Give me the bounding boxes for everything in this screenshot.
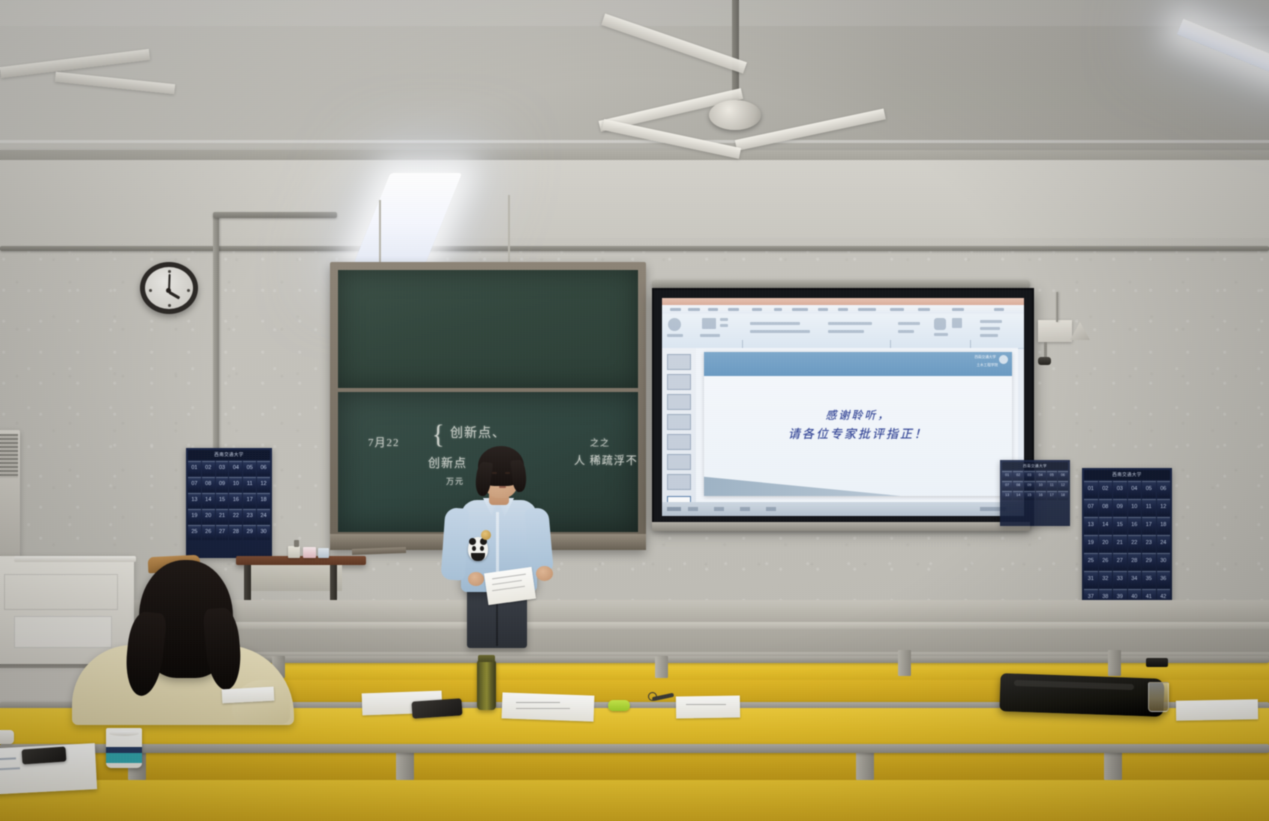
pocket-cell[interactable]: 25 [1084,553,1098,570]
ceiling-slab [0,0,1269,26]
pocket-number: 12 [1160,505,1166,511]
pocket-organizer-title: 西南交通大学 [1112,472,1141,478]
pocket-number: 09 [219,482,225,488]
pocket-cell[interactable]: 06 [257,461,270,476]
pocket-cell[interactable]: 11 [1047,481,1057,490]
pocket-cell[interactable]: 25 [188,525,201,540]
pocket-cell[interactable]: 27 [216,525,229,540]
presenter-mouth [499,486,506,488]
pocket-number: 14 [1102,523,1108,529]
pocket-cell[interactable]: 04 [1128,481,1142,498]
pocket-cell[interactable]: 24 [1157,535,1171,552]
chalk-box-red [303,547,316,558]
pocket-number: 29 [1146,559,1152,565]
pocket-cell[interactable]: 03 [1024,471,1034,480]
pocket-number: 36 [1160,577,1166,583]
pocket-cell[interactable]: 17 [243,493,256,508]
pocket-number: 17 [1146,523,1152,529]
pocket-number: 17 [247,498,253,504]
pocket-cell[interactable]: 36 [1157,571,1171,588]
powerpoint-tab-bar[interactable] [662,305,1024,314]
pocket-number: 01 [191,466,197,472]
pocket-number: 03 [219,466,225,472]
pocket-number: 22 [233,514,239,520]
pocket-number: 12 [1061,484,1065,488]
loose-papers[interactable] [1176,699,1258,720]
pocket-number: 26 [1102,559,1108,565]
blackboard-chalk-text: 7月22 [368,434,400,450]
pocket-cell[interactable]: 33 [1113,571,1127,588]
pocket-cell[interactable]: 06 [1157,481,1171,498]
pocket-number: 13 [191,498,197,504]
pocket-number: 30 [261,530,267,536]
clock-center [166,288,171,293]
pocket-number: 13 [1088,523,1094,529]
pocket-number: 02 [205,466,211,472]
pocket-organizer-title: 西南交通大学 [214,452,243,458]
pocket-number: 27 [219,530,225,536]
pocket-number: 16 [1039,494,1043,498]
pocket-number: 05 [1050,474,1054,478]
teacher-desk-panel [246,565,342,591]
current-slide: 西南交通大学 土木工程学院 感谢聆听， 请各位专家批评指正！ [704,352,1012,496]
pocket-number: 03 [1117,487,1123,493]
pocket-cell[interactable]: 19 [188,509,201,524]
pocket-number: 02 [1016,474,1020,478]
pocket-number: 32 [1102,577,1108,583]
powerpoint-ribbon[interactable] [662,314,1024,349]
pocket-cell[interactable]: 07 [1002,481,1012,490]
pocket-cell[interactable]: 22 [1128,535,1142,552]
pocket-grid: 0102030405060708091011121314151617181920… [188,461,270,540]
pocket-number: 20 [1102,541,1108,547]
pocket-number: 02 [1102,487,1108,493]
pocket-cell[interactable]: 03 [216,461,229,476]
pocket-number: 07 [1005,484,1009,488]
classroom-photo: 7月22 { 创新点、 之之 创新点 人 稀疏浮不 万元 [0,0,1269,821]
pocket-number: 10 [1039,484,1043,488]
pocket-cell[interactable]: 11 [243,477,256,492]
smartphone[interactable] [22,746,67,764]
pocket-number: 35 [1146,577,1152,583]
paper-cup[interactable] [106,728,142,768]
pocket-cell[interactable]: 14 [1013,491,1023,500]
pocket-organizer-header: 西南交通大学 [1084,470,1170,480]
pocket-number: 07 [1088,505,1094,511]
chalk-box-blue [318,548,329,558]
pocket-cell[interactable]: 01 [188,461,201,476]
phone-pocket-organizer-right: 西南交通大学 010203040506070809101112131415161… [1082,468,1172,608]
pocket-organizer-header: 西南交通大学 [1002,462,1068,470]
blackboard-chalk-text: 人 稀疏浮不 [574,452,638,468]
pocket-cell[interactable]: 21 [1113,535,1127,552]
pocket-cell[interactable]: 29 [243,525,256,540]
powerpoint-slide-stage: 西南交通大学 土木工程学院 感谢聆听， 请各位专家批评指正！ [696,348,1018,502]
pocket-number: 23 [1146,541,1152,547]
pocket-number: 04 [1039,474,1043,478]
pocket-cell[interactable]: 05 [1142,481,1156,498]
pocket-number: 19 [191,514,197,520]
pocket-number: 09 [1117,505,1123,511]
pocket-number: 08 [205,482,211,488]
glass-tea-cup[interactable] [1148,682,1169,712]
pocket-cell[interactable]: 11 [1142,499,1156,516]
slide-header-band: 西南交通大学 土木工程学院 [704,352,1012,376]
pocket-cell[interactable]: 09 [1024,481,1034,490]
pocket-cell[interactable]: 07 [1084,499,1098,516]
pocket-cell[interactable]: 03 [1113,481,1127,498]
pocket-number: 05 [247,466,253,472]
camera-cable [1056,292,1058,322]
phone-pocket-organizer-left: 西南交通大学 010203040506070809101112131415161… [186,448,272,558]
pocket-cell[interactable]: 22 [229,509,242,524]
pocket-cell[interactable]: 13 [1002,491,1012,500]
teacher-desk-top [236,556,366,565]
cup-band-teal [106,753,142,763]
pocket-cell[interactable]: 29 [1142,553,1156,570]
pocket-cell[interactable]: 08 [1099,499,1113,516]
pocket-cell[interactable]: 07 [188,477,201,492]
pocket-cell[interactable]: 15 [1024,491,1034,500]
panda-eye [480,546,484,551]
desk-post [1108,650,1121,676]
projected-image: 西南交通大学 土木工程学院 感谢聆听， 请各位专家批评指正！ [662,298,1024,516]
pocket-number: 21 [219,514,225,520]
pocket-number: 18 [1160,523,1166,529]
desk-row-front-edge [0,750,1269,784]
pocket-cell[interactable]: 30 [257,525,270,540]
powerpoint-status-bar [662,502,1024,516]
paper-line [516,702,560,703]
pocket-number: 29 [247,530,253,536]
pocket-number: 18 [261,498,267,504]
pocket-cell[interactable]: 10 [1128,499,1142,516]
loose-papers[interactable] [502,692,595,721]
presenter-eye [505,472,510,474]
pocket-cell[interactable]: 15 [216,493,229,508]
desk-row-front-lower [0,780,1269,821]
pocket-cell[interactable]: 18 [257,493,270,508]
pocket-organizer-title: 西南交通大学 [1023,464,1047,469]
pocket-number: 06 [1061,474,1065,478]
cabinet-top-edge [14,556,136,562]
pocket-cell[interactable]: 26 [1099,553,1113,570]
pocket-cell[interactable]: 08 [202,477,215,492]
tea-bottle[interactable] [477,660,496,710]
blackboard-chalk-text: 创新点 [428,454,467,471]
pocket-cell[interactable]: 12 [1058,481,1068,490]
paper-line [516,708,570,709]
pocket-number: 14 [1016,494,1020,498]
slide-logo-line2: 土木工程学院 [976,363,998,368]
keyring-loop-icon [648,692,657,701]
pocket-cell[interactable]: 26 [202,525,215,540]
pocket-number: 13 [1005,494,1009,498]
pocket-cell[interactable]: 12 [1157,499,1171,516]
pocket-number: 24 [261,514,267,520]
pocket-number: 10 [233,482,239,488]
pocket-cell[interactable]: 04 [1036,471,1046,480]
pocket-number: 31 [1088,577,1094,583]
camera-mount [1044,342,1047,358]
ac-vent [0,434,18,478]
pocket-cell[interactable]: 35 [1142,571,1156,588]
pocket-number: 25 [1088,559,1094,565]
pocket-number: 27 [1117,559,1123,565]
pocket-number: 08 [1102,505,1108,511]
pocket-cell[interactable]: 31 [1084,571,1098,588]
pocket-grid: 010203040506070809101112131415161718 [1002,471,1068,500]
blackboard-chalk-text: 万元 [446,476,464,487]
pocket-cell[interactable]: 18 [1157,517,1171,534]
chalk-holder [294,540,299,547]
pocket-number: 06 [1160,487,1166,493]
blackboard-chalk-brace: { [432,420,445,450]
pocket-number: 08 [1016,484,1020,488]
presenter-held-papers [484,567,536,605]
pocket-cell[interactable]: 21 [216,509,229,524]
panda-ear [469,538,476,545]
panda-plush-icon [468,537,488,561]
wall-conduit [0,246,1269,251]
pocket-number: 15 [1117,523,1123,529]
pocket-number: 25 [191,530,197,536]
panda-eye [472,546,476,551]
pocket-cell[interactable]: 08 [1013,481,1023,490]
cup-rim [109,731,139,736]
loose-papers[interactable] [222,687,275,704]
pocket-cell[interactable]: 02 [1013,471,1023,480]
pocket-cell[interactable]: 10 [1036,481,1046,490]
pocket-cell[interactable]: 04 [229,461,242,476]
cabinet-panel [4,574,118,610]
pocket-cell[interactable]: 02 [1099,481,1113,498]
desk-post [898,650,911,676]
tea-bottle-cap[interactable] [478,655,495,662]
pocket-cell[interactable]: 28 [229,525,242,540]
pocket-number: 23 [247,514,253,520]
pocket-number: 04 [233,466,239,472]
pocket-number: 24 [1160,541,1166,547]
projector-screen[interactable]: 西南交通大学 土木工程学院 感谢聆听， 请各位专家批评指正！ [652,288,1034,526]
pocket-number: 11 [1050,484,1054,488]
wall-camera-icon [1038,357,1051,365]
phone-pocket-organizer-right-small: 西南交通大学 010203040506070809101112131415161… [1000,460,1070,526]
paper-line [686,704,726,705]
pocket-cell[interactable]: 15 [1113,517,1127,534]
pocket-cell[interactable]: 16 [1036,491,1046,500]
clock-face [145,267,193,309]
pocket-number: 09 [1027,484,1031,488]
pocket-cell[interactable]: 20 [202,509,215,524]
ceiling-fan-hub [709,100,761,130]
pocket-cell[interactable]: 01 [1002,471,1012,480]
pocket-number: 11 [1146,505,1152,511]
glass-cup-lid [1146,658,1168,667]
pocket-number: 26 [205,530,211,536]
pocket-number: 01 [1005,474,1009,478]
pocket-number: 19 [1088,541,1094,547]
blackboard-upper-panel [338,270,638,388]
air-conditioner [0,430,20,558]
wall-clock [140,262,198,314]
pocket-cell[interactable]: 13 [1084,517,1098,534]
pocket-number: 06 [261,466,267,472]
pocket-number: 16 [1131,523,1137,529]
slide-logo-icon [999,355,1008,364]
cabinet-drawer [14,616,112,648]
panda-bow-icon [481,530,491,540]
blackboard-chalk-text: 创新点、 [450,422,506,441]
pocket-cell[interactable]: 14 [1099,517,1113,534]
pocket-cell[interactable]: 17 [1047,491,1057,500]
presenter-hand-right [536,566,553,581]
pocket-cell[interactable]: 02 [202,461,215,476]
pocket-cell[interactable]: 06 [1058,471,1068,480]
wall-sign [1038,320,1072,342]
pocket-number: 30 [1160,559,1166,565]
pocket-cell[interactable]: 12 [257,477,270,492]
pocket-cell[interactable]: 32 [1099,571,1113,588]
pocket-number: 14 [205,498,211,504]
pocket-number: 21 [1117,541,1123,547]
pocket-cell[interactable]: 09 [1113,499,1127,516]
green-tape-measure[interactable] [608,700,630,711]
ceiling-seam [0,140,1269,143]
pocket-number: 28 [1131,559,1137,565]
pocket-number: 01 [1088,487,1094,493]
pocket-cell[interactable]: 14 [202,493,215,508]
pocket-cell[interactable]: 16 [229,493,242,508]
presenter-hand-left [468,572,484,586]
slide-logo-line1: 西南交通大学 [974,355,996,360]
pocket-cell[interactable]: 20 [1099,535,1113,552]
slide-decorative-wedge [704,466,901,496]
panda-body [471,553,485,561]
pocket-number: 16 [233,498,239,504]
pocket-number: 33 [1117,577,1123,583]
pocket-cell[interactable]: 27 [1113,553,1127,570]
pocket-number: 34 [1131,577,1137,583]
pocket-cell[interactable]: 05 [243,461,256,476]
pocket-cell[interactable]: 19 [1084,535,1098,552]
pocket-number: 10 [1131,505,1137,511]
pocket-cell[interactable]: 24 [257,509,270,524]
pocket-cell[interactable]: 30 [1157,553,1171,570]
pocket-cell[interactable]: 28 [1128,553,1142,570]
pocket-cell[interactable]: 09 [216,477,229,492]
pocket-cell[interactable]: 01 [1084,481,1098,498]
pocket-cell[interactable]: 34 [1128,571,1142,588]
desk-post [655,656,668,678]
pocket-number: 22 [1131,541,1137,547]
pocket-number: 18 [1061,494,1065,498]
pocket-number: 04 [1131,487,1137,493]
upper-wall-band [0,160,1269,238]
pocket-cell[interactable]: 16 [1128,517,1142,534]
pocket-number: 20 [205,514,211,520]
pocket-number: 28 [233,530,239,536]
wall-pipe-horizontal [213,212,337,218]
projector-screen-bottom-bar [652,522,1030,531]
pocket-grid: 0102030405060708091011121314151617181920… [1084,481,1170,606]
slide-text-line1: 感谢聆听， [704,407,1012,423]
pocket-number: 03 [1027,474,1031,478]
desk-rail-front-lower [0,744,1269,753]
smartphone[interactable] [411,698,462,718]
pocket-number: 15 [219,498,225,504]
pocket-cell[interactable]: 13 [188,493,201,508]
loose-papers[interactable] [676,695,740,718]
pocket-cell[interactable]: 10 [229,477,242,492]
pocket-number: 11 [247,482,253,488]
chalk-box [288,546,300,558]
presenter-arm-left [441,507,470,580]
pocket-organizer-header: 西南交通大学 [188,450,270,460]
pocket-cell[interactable]: 18 [1058,491,1068,500]
pocket-number: 17 [1050,494,1054,498]
pocket-cell[interactable]: 23 [1142,535,1156,552]
presenter-eye [492,472,497,474]
pocket-number: 12 [261,482,267,488]
pocket-number: 07 [191,482,197,488]
small-white-object[interactable] [0,730,14,744]
pocket-number: 15 [1027,494,1031,498]
pocket-number: 05 [1146,487,1152,493]
blackboard-chalk-text: 之之 [590,436,610,449]
slide-text-line2: 请各位专家批评指正！ [704,425,1012,442]
powerpoint-title-bar [662,298,1024,305]
pocket-cell[interactable]: 23 [243,509,256,524]
pocket-cell[interactable]: 05 [1047,471,1057,480]
pocket-cell[interactable]: 17 [1142,517,1156,534]
powerpoint-slide-thumbnails[interactable] [662,348,697,502]
